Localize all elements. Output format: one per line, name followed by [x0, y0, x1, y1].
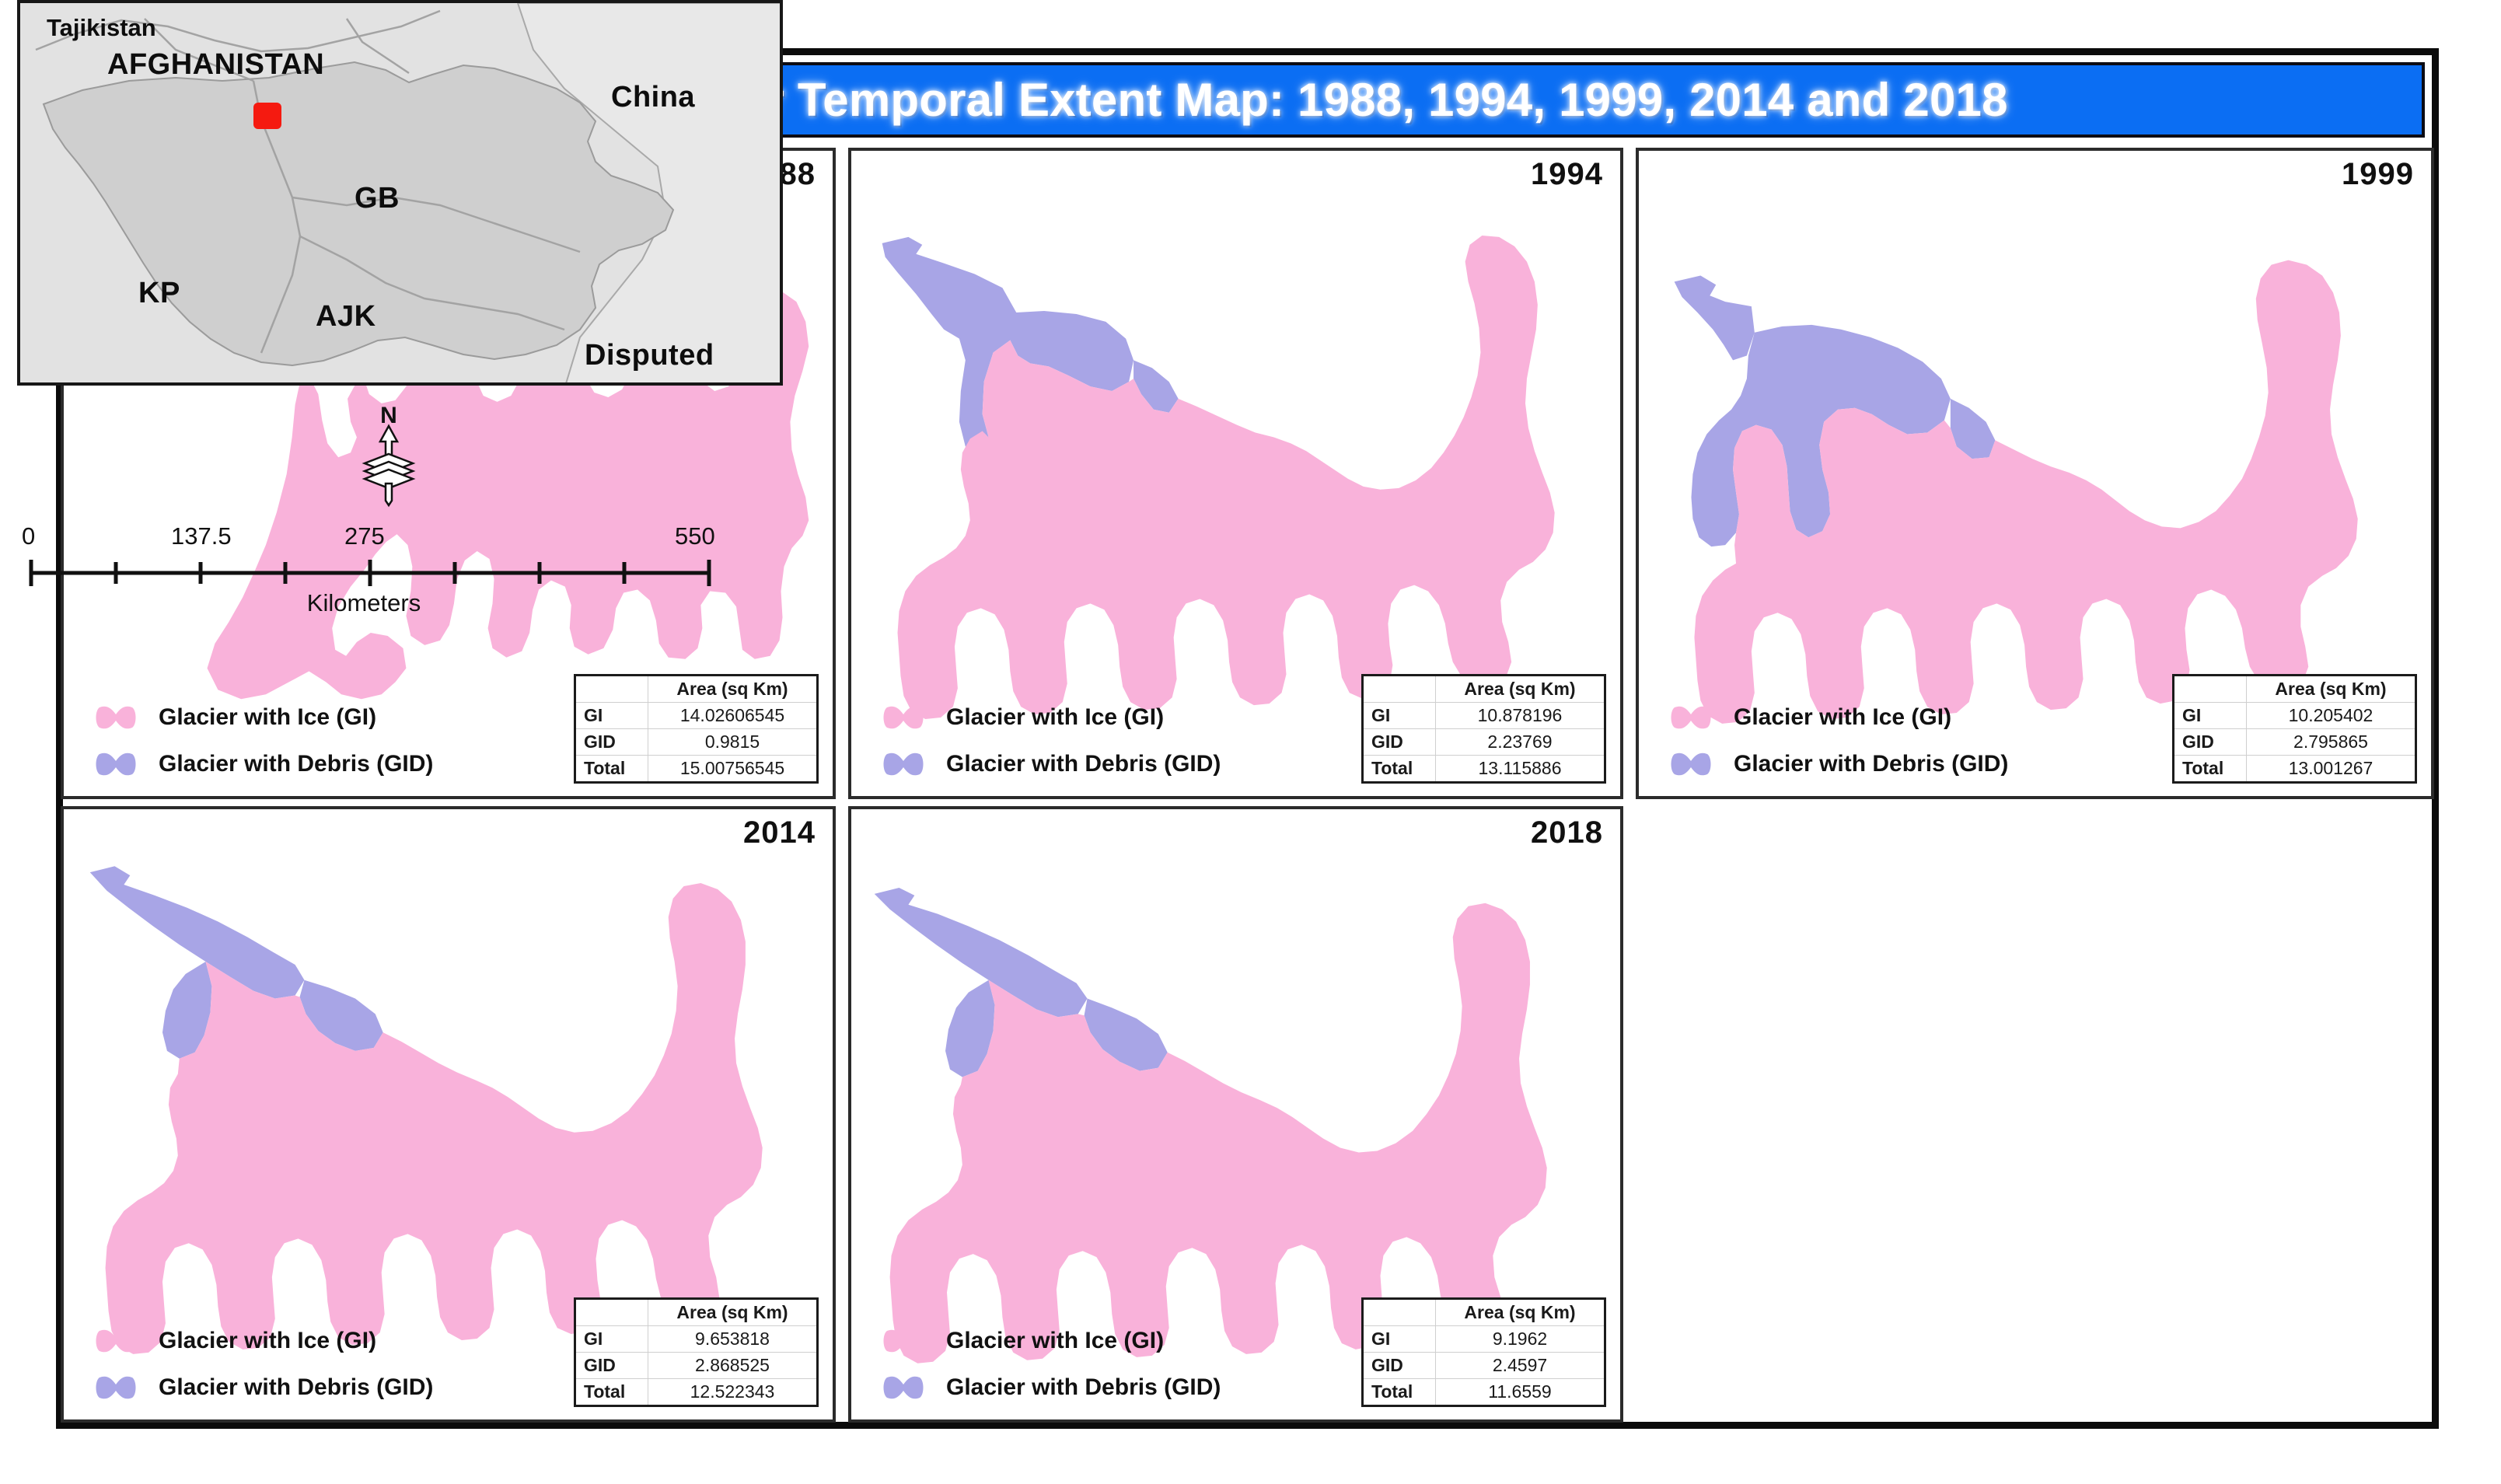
table-row: Total 15.00756545: [575, 755, 818, 782]
table-label-total: Total: [575, 1378, 648, 1405]
table-row: GID 2.4597: [1363, 1352, 1605, 1378]
table-label-gi: GI: [1363, 1325, 1436, 1352]
map-panel-2014[interactable]: 2014 Glacier with Ice (GI) Glacier with …: [61, 806, 836, 1423]
area-table-1999: Area (sq Km) GI 10.205402 GID 2.795865 T…: [2172, 674, 2417, 784]
table-row: GI 9.653818: [575, 1325, 818, 1352]
table-row: Total 13.115886: [1363, 755, 1605, 782]
table-header-area: Area (sq Km): [648, 1298, 818, 1325]
map-panel-2018[interactable]: 2018 Glacier with Ice (GI) Glacier with …: [848, 806, 1623, 1423]
table-label-gi: GI: [575, 1325, 648, 1352]
legend-2018: Glacier with Ice (GI) Glacier with Debri…: [881, 1326, 1221, 1402]
table-value-total: 13.115886: [1436, 755, 1605, 782]
table-corner-cell: [575, 675, 648, 702]
table-label-gid: GID: [2174, 728, 2247, 755]
table-row: GI 10.205402: [2174, 702, 2416, 728]
inset-label-afghanistan: AFGHANISTAN: [107, 48, 324, 82]
legend-row-ice: Glacier with Ice (GI): [881, 703, 1221, 732]
glacier-debris-swatch: [93, 1373, 138, 1402]
table-value-gid: 2.23769: [1436, 728, 1605, 755]
glacier-ice-swatch: [881, 1326, 926, 1356]
legend-label-ice: Glacier with Ice (GI): [159, 704, 376, 731]
table-label-gid: GID: [575, 728, 648, 755]
table-row: GID 2.795865: [2174, 728, 2416, 755]
legend-row-ice: Glacier with Ice (GI): [93, 1326, 433, 1356]
scale-bar-ruler: [28, 555, 728, 591]
table-label-total: Total: [1363, 1378, 1436, 1405]
legend-2014: Glacier with Ice (GI) Glacier with Debri…: [93, 1326, 433, 1402]
scale-tick-label-550: 550: [675, 522, 715, 550]
legend-label-ice: Glacier with Ice (GI): [946, 1328, 1164, 1354]
inset-label-china: China: [611, 81, 695, 114]
table-label-total: Total: [1363, 755, 1436, 782]
table-label-gid: GID: [575, 1352, 648, 1378]
table-header-area: Area (sq Km): [1436, 675, 1605, 702]
table-row: GI 10.878196: [1363, 702, 1605, 728]
scale-tick-label-0: 0: [22, 522, 35, 550]
table-row: Area (sq Km): [575, 675, 818, 702]
glacier-debris-swatch: [881, 749, 926, 779]
table-row: GI 9.1962: [1363, 1325, 1605, 1352]
legend-row-debris: Glacier with Debris (GID): [1668, 749, 2008, 779]
table-label-total: Total: [575, 755, 648, 782]
table-value-gid: 2.4597: [1436, 1352, 1605, 1378]
table-row: Total 12.522343: [575, 1378, 818, 1405]
area-table-2014: Area (sq Km) GI 9.653818 GID 2.868525 To…: [574, 1297, 819, 1408]
glacier-ice-swatch: [1668, 703, 1713, 732]
table-row: Area (sq Km): [575, 1298, 818, 1325]
legend-row-ice: Glacier with Ice (GI): [1668, 703, 2008, 732]
table-label-gid: GID: [1363, 1352, 1436, 1378]
north-arrow-icon: N: [354, 403, 424, 508]
glacier-ice-swatch: [881, 703, 926, 732]
table-value-total: 13.001267: [2247, 755, 2416, 782]
table-value-gid: 2.795865: [2247, 728, 2416, 755]
table-value-total: 11.6559: [1436, 1378, 1605, 1405]
legend-label-debris: Glacier with Debris (GID): [946, 1374, 1221, 1401]
inset-label-ajk: AJK: [316, 300, 376, 333]
table-corner-cell: [575, 1298, 648, 1325]
table-value-total: 12.522343: [648, 1378, 818, 1405]
glacier-debris-swatch: [93, 749, 138, 779]
table-value-gi: 9.653818: [648, 1325, 818, 1352]
table-value-total: 15.00756545: [648, 755, 818, 782]
legend-1994: Glacier with Ice (GI) Glacier with Debri…: [881, 703, 1221, 779]
table-label-gi: GI: [575, 702, 648, 728]
legend-label-ice: Glacier with Ice (GI): [159, 1328, 376, 1354]
legend-label-ice: Glacier with Ice (GI): [1734, 704, 1951, 731]
legend-label-debris: Glacier with Debris (GID): [159, 1374, 433, 1401]
location-inset-panel[interactable]: Tajikistan AFGHANISTAN China GB KP AJK D…: [0, 0, 798, 616]
legend-label-debris: Glacier with Debris (GID): [1734, 751, 2008, 777]
table-value-gid: 2.868525: [648, 1352, 818, 1378]
legend-row-ice: Glacier with Ice (GI): [881, 1326, 1221, 1356]
glacier-ice-swatch: [93, 1326, 138, 1356]
table-header-area: Area (sq Km): [1436, 1298, 1605, 1325]
legend-row-debris: Glacier with Debris (GID): [881, 749, 1221, 779]
table-value-gi: 9.1962: [1436, 1325, 1605, 1352]
table-row: Area (sq Km): [1363, 675, 1605, 702]
table-value-gi: 10.878196: [1436, 702, 1605, 728]
legend-label-ice: Glacier with Ice (GI): [946, 704, 1164, 731]
table-corner-cell: [1363, 1298, 1436, 1325]
study-site-marker: [253, 103, 281, 129]
inset-label-gb: GB: [355, 182, 400, 215]
glacier-debris-swatch: [881, 1373, 926, 1402]
table-row: GI 14.02606545: [575, 702, 818, 728]
table-value-gid: 0.9815: [648, 728, 818, 755]
legend-label-debris: Glacier with Debris (GID): [159, 751, 433, 777]
inset-label-tajikistan: Tajikistan: [47, 14, 156, 42]
area-table-2018: Area (sq Km) GI 9.1962 GID 2.4597 Total …: [1361, 1297, 1606, 1408]
glacier-ice-swatch: [93, 703, 138, 732]
legend-1999: Glacier with Ice (GI) Glacier with Debri…: [1668, 703, 2008, 779]
table-row: GID 2.868525: [575, 1352, 818, 1378]
legend-row-debris: Glacier with Debris (GID): [93, 1373, 433, 1402]
scale-tick-label-275: 275: [344, 522, 385, 550]
inset-label-disputed: Disputed: [585, 339, 714, 372]
table-value-gi: 10.205402: [2247, 702, 2416, 728]
table-label-gi: GI: [2174, 702, 2247, 728]
location-inset-map[interactable]: Tajikistan AFGHANISTAN China GB KP AJK D…: [17, 0, 783, 386]
table-row: Total 13.001267: [2174, 755, 2416, 782]
inset-label-kp: KP: [138, 277, 180, 310]
map-panel-1994[interactable]: 1994 Glacier with Ice (GI) Glacier with …: [848, 148, 1623, 799]
table-row: Total 11.6559: [1363, 1378, 1605, 1405]
table-header-area: Area (sq Km): [2247, 675, 2416, 702]
table-header-area: Area (sq Km): [648, 675, 818, 702]
table-value-gi: 14.02606545: [648, 702, 818, 728]
table-label-gid: GID: [1363, 728, 1436, 755]
table-row: Area (sq Km): [2174, 675, 2416, 702]
legend-1988: Glacier with Ice (GI) Glacier with Debri…: [93, 703, 433, 779]
scale-bar-units-label: Kilometers: [22, 589, 706, 617]
table-row: Area (sq Km): [1363, 1298, 1605, 1325]
table-label-total: Total: [2174, 755, 2247, 782]
table-label-gi: GI: [1363, 702, 1436, 728]
area-table-1994: Area (sq Km) GI 10.878196 GID 2.23769 To…: [1361, 674, 1606, 784]
legend-row-ice: Glacier with Ice (GI): [93, 703, 433, 732]
map-panel-1999[interactable]: 1999 Glacier with Ice (GI) Glacier with …: [1636, 148, 2434, 799]
glacier-debris-swatch: [1668, 749, 1713, 779]
table-row: GID 2.23769: [1363, 728, 1605, 755]
legend-row-debris: Glacier with Debris (GID): [93, 749, 433, 779]
legend-label-debris: Glacier with Debris (GID): [946, 751, 1221, 777]
table-row: GID 0.9815: [575, 728, 818, 755]
legend-row-debris: Glacier with Debris (GID): [881, 1373, 1221, 1402]
area-table-1988: Area (sq Km) GI 14.02606545 GID 0.9815 T…: [574, 674, 819, 784]
table-corner-cell: [2174, 675, 2247, 702]
scale-tick-label-137-5: 137.5: [171, 522, 232, 550]
scale-bar: 0 137.5 275 550 Kilometers: [22, 522, 768, 616]
table-corner-cell: [1363, 675, 1436, 702]
